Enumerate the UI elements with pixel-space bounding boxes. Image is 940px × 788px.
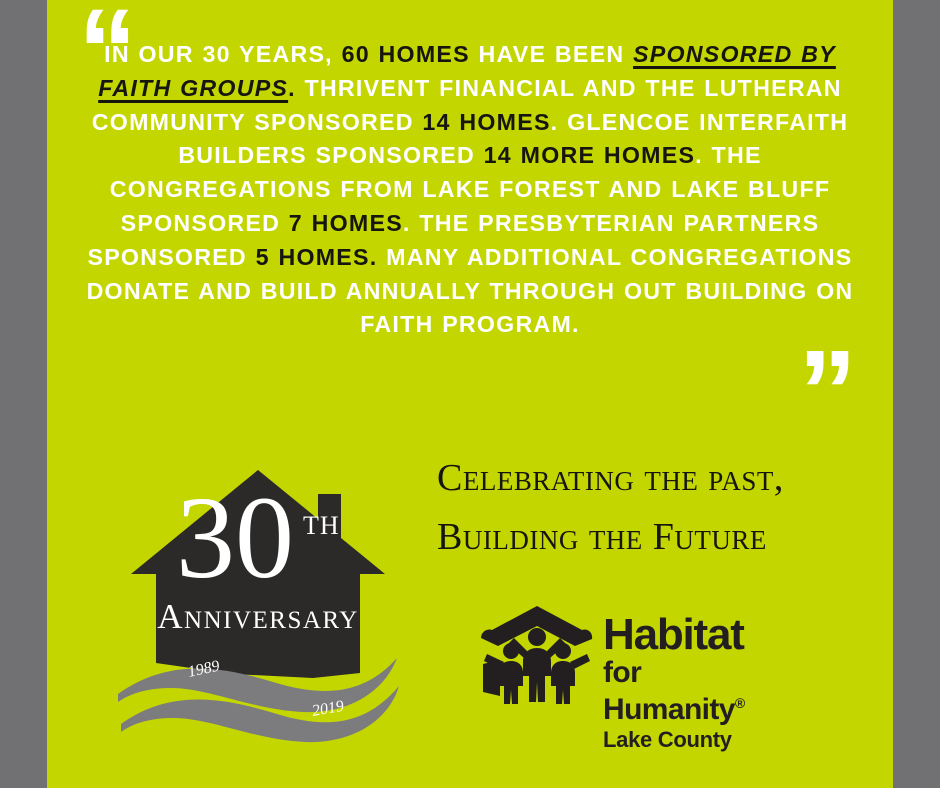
- anniversary-word: Anniversary: [157, 597, 359, 636]
- poster-canvas: “ IN OUR 30 YEARS, 60 HOMES HAVE BEEN SP…: [0, 0, 940, 788]
- habitat-for-humanity-logo: Habitat for Humanity® Lake County: [478, 598, 778, 728]
- quote-segment-2: HAVE BEEN: [470, 41, 633, 67]
- quote-segment-11: 7 HOMES: [289, 210, 403, 236]
- quote-segment-1: 60 HOMES: [342, 41, 470, 67]
- habitat-wordmark: Habitat for Humanity® Lake County: [603, 615, 778, 752]
- tagline-line-1: Celebrating the past,: [437, 449, 867, 508]
- anniversary-number: 30: [176, 472, 294, 603]
- anniversary-logo: 30 TH Anniversary 1989 2019: [113, 462, 403, 750]
- habitat-affiliate: Lake County: [603, 728, 778, 752]
- habitat-name: Habitat: [603, 615, 778, 655]
- quote-segment-0: IN OUR 30 YEARS,: [104, 41, 341, 67]
- habitat-house-people-icon: [478, 598, 596, 706]
- quote-text-block: IN OUR 30 YEARS, 60 HOMES HAVE BEEN SPON…: [85, 38, 855, 342]
- tagline: Celebrating the past, Building the Futur…: [437, 449, 867, 567]
- quote-segment-6: 14 HOMES: [422, 109, 550, 135]
- tagline-line-2: Building the Future: [437, 508, 867, 567]
- anniversary-ordinal: TH: [303, 511, 340, 540]
- quote-segment-13: 5 HOMES.: [256, 244, 378, 270]
- quote-segment-9: 14 MORE HOMES: [484, 142, 696, 168]
- quote-segment-4: .: [288, 75, 296, 101]
- habitat-subtitle: for Humanity®: [603, 657, 778, 725]
- registered-trademark-icon: ®: [735, 695, 745, 711]
- closing-quote-icon: ”: [798, 333, 857, 451]
- habitat-subtitle-text: for Humanity: [603, 656, 735, 726]
